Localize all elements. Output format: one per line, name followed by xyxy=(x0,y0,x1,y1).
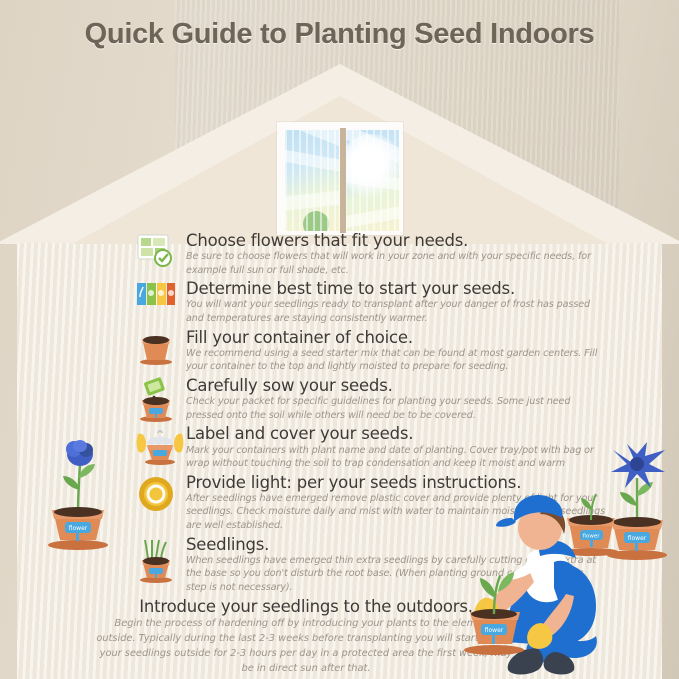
window-foliage xyxy=(303,211,329,231)
step-text: Determine best time to start your seeds.… xyxy=(186,279,606,325)
zone-map-magnifier-icon xyxy=(136,233,180,277)
sun-ray xyxy=(285,145,339,176)
sun-light-ring-icon xyxy=(136,475,180,519)
step-text: Carefully sow your seeds. Check your pac… xyxy=(186,376,606,422)
sun-ray xyxy=(345,202,399,229)
sprouts xyxy=(145,540,166,559)
step-heading: Choose flowers that fit your needs. xyxy=(186,231,606,250)
pot-saucer xyxy=(48,540,108,550)
step-item: Carefully sow your seeds. Check your pac… xyxy=(136,376,606,422)
step-body: Be sure to choose flowers that will work… xyxy=(186,250,606,277)
infographic-poster: Quick Guide to Planting Seed Indoors xyxy=(0,0,679,679)
step-text: Label and cover your seeds. Mark your co… xyxy=(186,424,606,470)
sun-icon xyxy=(345,134,399,198)
step-heading: Carefully sow your seeds. xyxy=(186,376,606,395)
pot-soil xyxy=(54,507,102,517)
sun-ray xyxy=(285,188,339,213)
gardener-illustration: flower xyxy=(436,492,636,679)
step-item: Label and cover your seeds. Mark your co… xyxy=(136,424,606,470)
seedlings-sprouting-pot-icon xyxy=(136,537,180,581)
window-pane-right xyxy=(345,130,399,231)
svg-text:flower: flower xyxy=(583,534,601,540)
svg-text:flower: flower xyxy=(485,627,504,634)
step-heading: Fill your container of choice. xyxy=(186,328,606,347)
page-title: Quick Guide to Planting Seed Indoors xyxy=(0,18,679,51)
gloves-covering-pot-icon xyxy=(136,426,180,470)
step-body: Mark your containers with plant name and… xyxy=(186,444,606,471)
window-pane-left xyxy=(285,130,339,231)
step-heading: Determine best time to start your seeds. xyxy=(186,279,606,298)
seed-packet-sowing-icon xyxy=(136,378,180,422)
step-body: You will want your seedlings ready to tr… xyxy=(186,298,606,325)
flower-pot-left: flower xyxy=(38,418,118,548)
step-text: Fill your container of choice. We recomm… xyxy=(186,328,606,374)
step-heading: Provide light: per your seeds instructio… xyxy=(186,473,606,492)
svg-text:flower: flower xyxy=(69,525,88,532)
filled-pot-icon xyxy=(136,330,180,374)
step-item: Choose flowers that fit your needs. Be s… xyxy=(136,231,606,277)
step-heading: Label and cover your seeds. xyxy=(186,424,606,443)
window-illustration xyxy=(277,122,403,235)
blue-flower xyxy=(66,440,93,466)
step-text: Choose flowers that fit your needs. Be s… xyxy=(186,231,606,277)
step-item: Fill your container of choice. We recomm… xyxy=(136,328,606,374)
background-pot: flower xyxy=(563,494,619,556)
step-body: Check your packet for specific guideline… xyxy=(186,395,606,422)
step-body: We recommend using a seed starter mix th… xyxy=(186,347,606,374)
window-mullion xyxy=(340,128,346,233)
four-seasons-calendar-icon xyxy=(136,281,180,325)
step-item: Determine best time to start your seeds.… xyxy=(136,279,606,325)
